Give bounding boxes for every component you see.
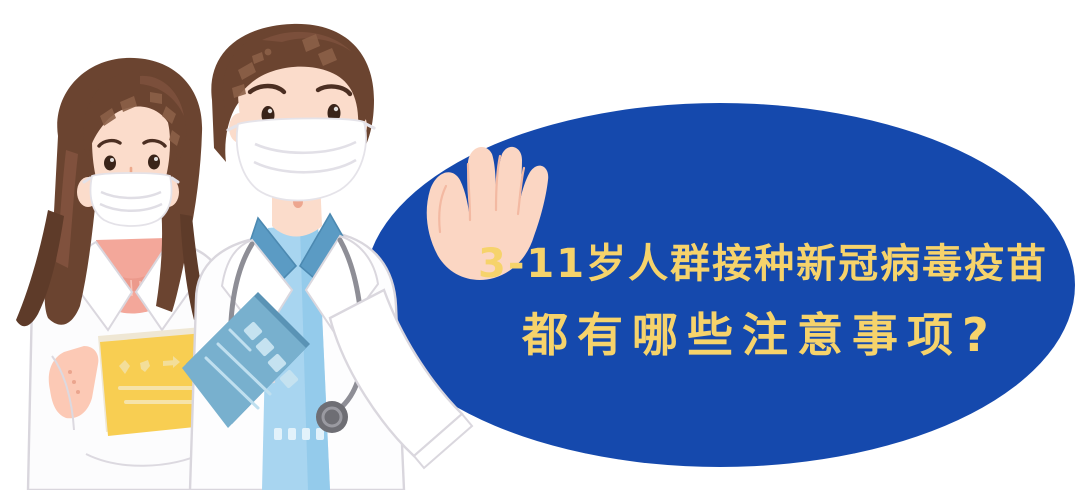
male-eye-glint-right xyxy=(334,107,338,111)
female-eye-glint-left xyxy=(110,158,114,162)
poster-illustration xyxy=(0,0,1080,490)
male-stethoscope-chestpiece xyxy=(316,401,348,433)
poster-canvas: 3-11岁人群接种新冠病毒疫苗 都有哪些注意事项? xyxy=(0,0,1080,490)
folder-line-1 xyxy=(118,386,204,390)
female-eye-right xyxy=(148,155,160,170)
female-eye-left xyxy=(104,156,116,171)
female-eye-glint-right xyxy=(154,157,158,161)
male-eye-glint-left xyxy=(268,109,272,113)
folder-line-2 xyxy=(124,400,196,404)
